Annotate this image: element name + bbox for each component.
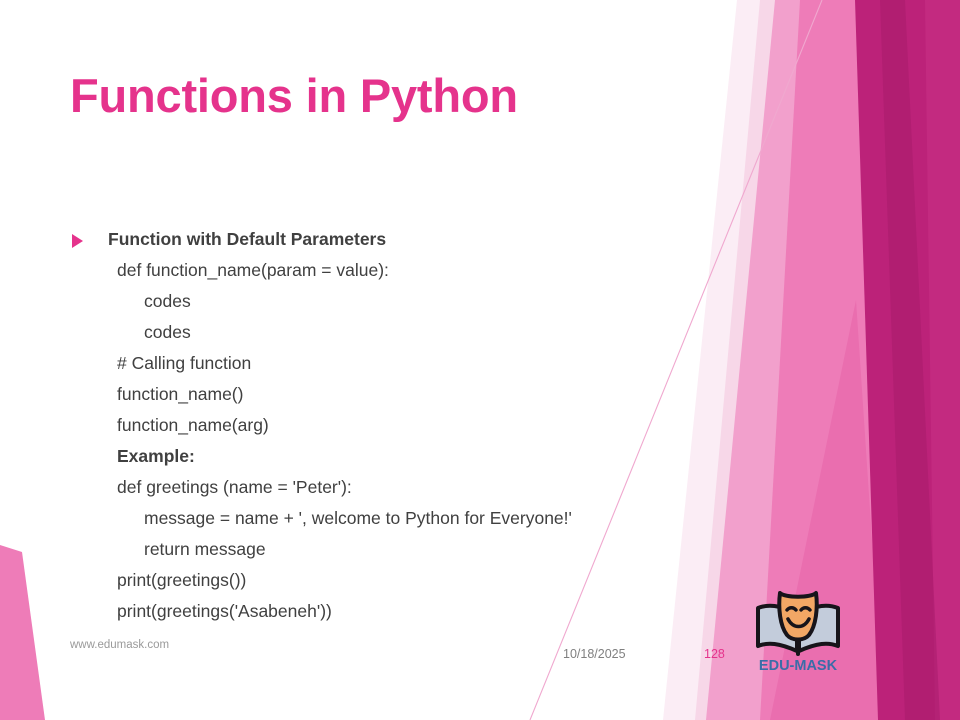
code-line: function_name() bbox=[70, 379, 690, 410]
decor-band-deep bbox=[925, 0, 960, 720]
edu-mask-logo-graphic: EDU-MASK bbox=[752, 586, 844, 674]
code-line: print(greetings()) bbox=[70, 565, 690, 596]
code-line: print(greetings('Asabeneh')) bbox=[70, 596, 690, 627]
list-item: Function with Default Parameters bbox=[70, 224, 690, 255]
logo-caption: EDU-MASK bbox=[759, 658, 838, 674]
code-line: codes bbox=[70, 317, 690, 348]
decor-band-magenta bbox=[855, 0, 960, 720]
code-line: return message bbox=[70, 534, 690, 565]
edu-mask-logo: EDU-MASK bbox=[752, 586, 844, 674]
page-title: Functions in Python bbox=[70, 68, 518, 123]
decor-band-dark-magenta bbox=[880, 0, 940, 720]
footer-website-url[interactable]: www.edumask.com bbox=[70, 639, 169, 651]
slide-body: Function with Default Parameters def fun… bbox=[70, 224, 690, 627]
decor-left-wedge bbox=[0, 545, 45, 720]
list-item-label: Function with Default Parameters bbox=[70, 224, 690, 255]
footer-date: 10/18/2025 bbox=[563, 647, 626, 661]
slide-number: 128 bbox=[704, 647, 725, 661]
code-line: message = name + ', welcome to Python fo… bbox=[70, 503, 690, 534]
code-line: function_name(arg) bbox=[70, 410, 690, 441]
code-comment-line: # Calling function bbox=[70, 348, 690, 379]
example-heading: Example: bbox=[70, 441, 690, 472]
triangle-right-icon bbox=[72, 234, 83, 248]
code-line: codes bbox=[70, 286, 690, 317]
code-line: def greetings (name = 'Peter'): bbox=[70, 472, 690, 503]
presentation-slide: Functions in Python Function with Defaul… bbox=[0, 0, 960, 720]
code-line: def function_name(param = value): bbox=[70, 255, 690, 286]
theater-mask-icon bbox=[779, 593, 816, 640]
